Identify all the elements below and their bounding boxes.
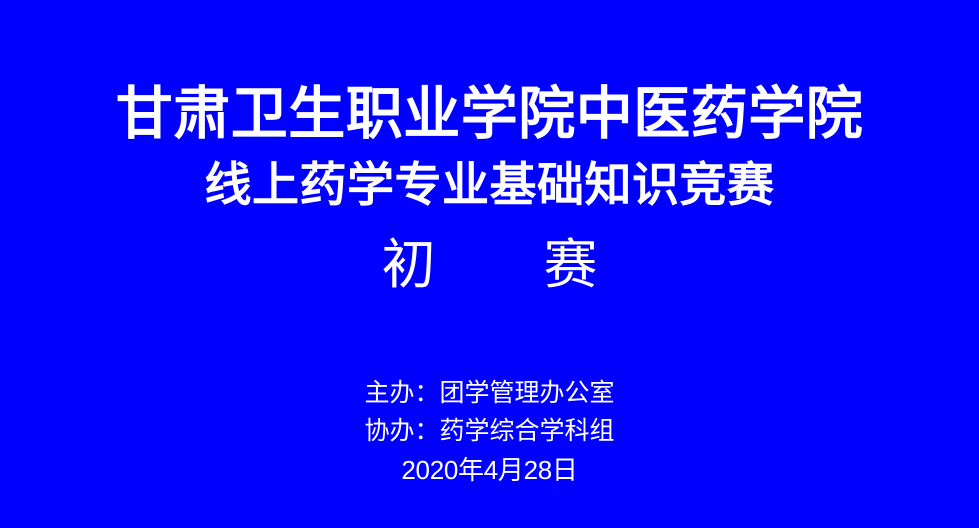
- slide-title-line-2: 线上药学专业基础知识竞赛: [0, 163, 979, 210]
- presentation-slide: 甘肃卫生职业学院中医药学院 线上药学专业基础知识竞赛 初 赛 主办：团学管理办公…: [0, 0, 979, 528]
- slide-date: 2020年4月28日: [0, 451, 979, 489]
- slide-title-line-3: 初 赛: [0, 238, 979, 292]
- slide-credits-block: 主办：团学管理办公室 协办：药学综合学科组 2020年4月28日: [0, 375, 979, 489]
- co-organizer-line: 协办：药学综合学科组: [0, 413, 979, 451]
- slide-title-line-1: 甘肃卫生职业学院中医药学院: [0, 86, 979, 143]
- organizer-line: 主办：团学管理办公室: [0, 375, 979, 413]
